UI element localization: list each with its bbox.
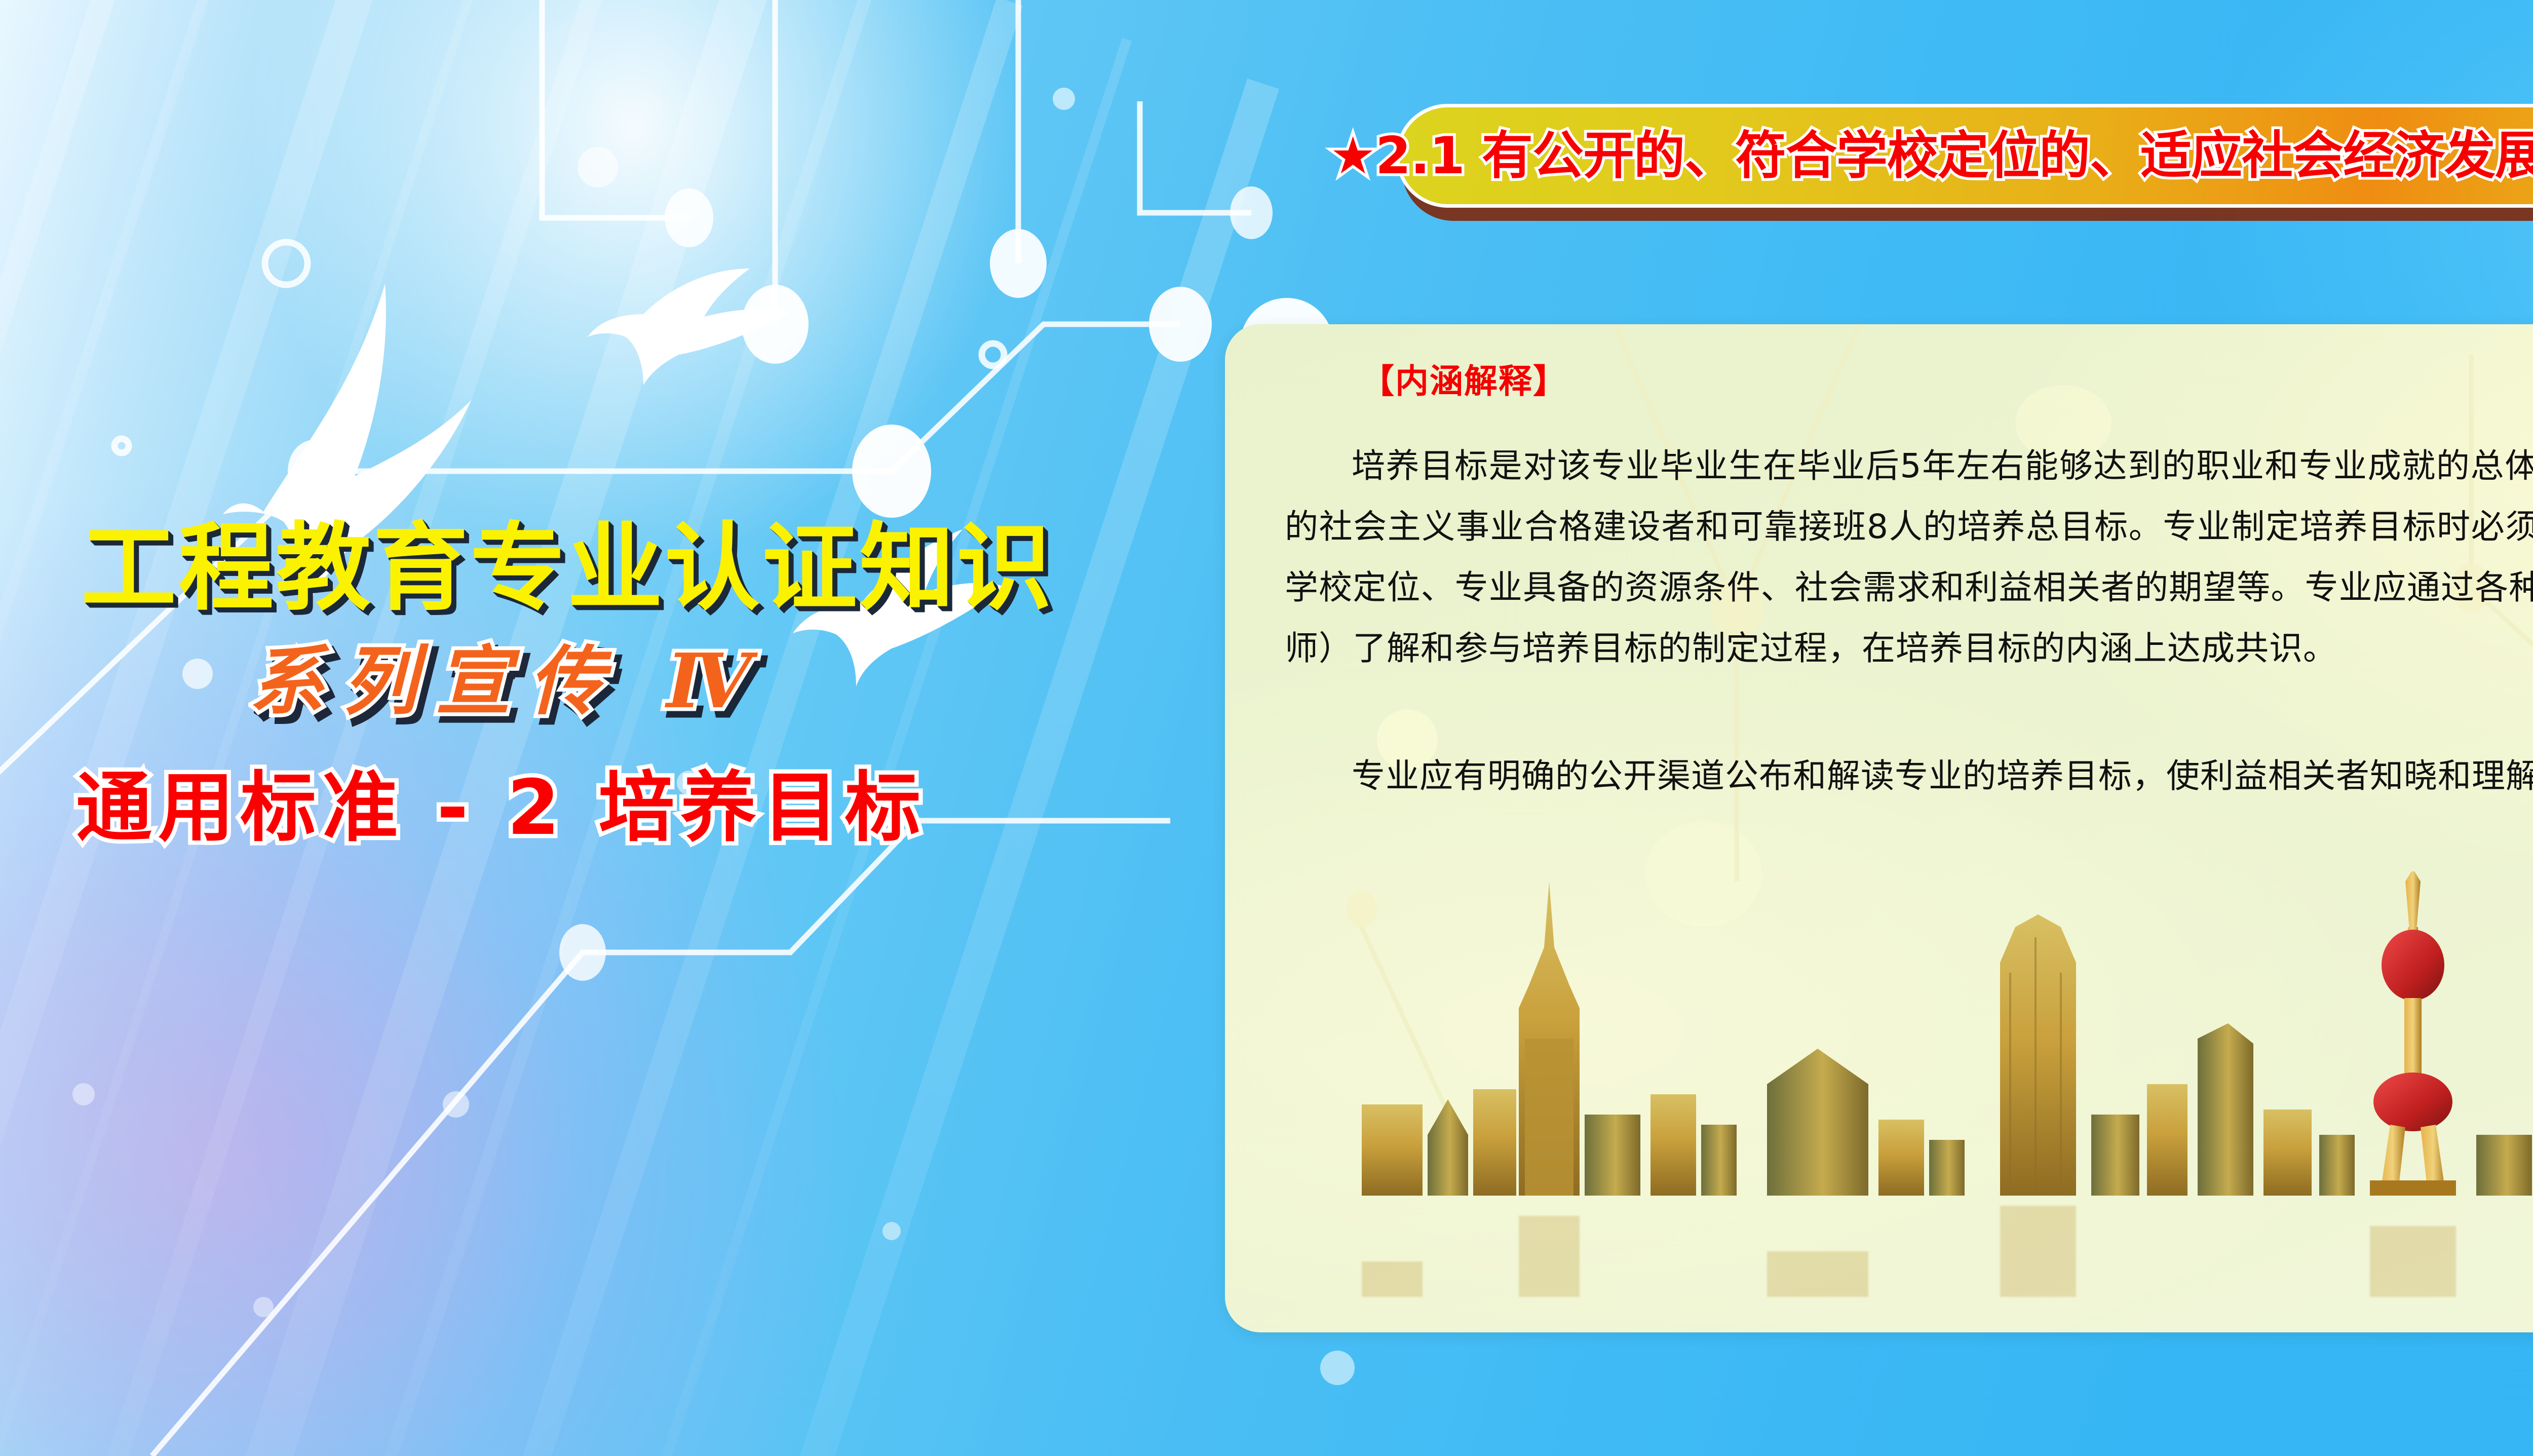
panel-heading: 【内涵解释】 <box>1361 365 1567 398</box>
content-panel: Digital communications, the digital era … <box>1225 324 2533 1332</box>
panel-paragraph-1: 培养目标是对该专业毕业生在毕业后5年左右能够达到的职业和专业成就的总体描述，应体… <box>1285 436 2533 679</box>
headline-banner-text: ★2.1 有公开的、符合学校定位的、适应社会经济发展需要的培养目标★ <box>1330 130 2533 181</box>
title-line-primary: 工程教育专业认证知识 <box>81 521 1054 616</box>
panel-text-layer: 【内涵解释】 培养目标是对该专业毕业生在毕业后5年左右能够达到的职业和专业成就的… <box>1225 324 2533 1332</box>
headline-banner: ★2.1 有公开的、符合学校定位的、适应社会经济发展需要的培养目标★ <box>1396 104 2533 208</box>
panel-paragraph-2: 专业应有明确的公开渠道公布和解读专业的培养目标，使利益相关者知晓和理解培养目标的… <box>1285 746 2533 807</box>
title-line-series: 系列宣传 Ⅳ <box>249 643 770 718</box>
title-line-standard: 通用标准 - 2 培养目标 <box>76 770 927 846</box>
headline-banner-plate: ★2.1 有公开的、符合学校定位的、适应社会经济发展需要的培养目标★ <box>1396 104 2533 208</box>
poster-canvas: 工程教育专业认证知识 系列宣传 Ⅳ 通用标准 - 2 培养目标 ★2.1 有公开… <box>0 0 2533 1456</box>
circuit-line-icon <box>0 0 1251 1456</box>
